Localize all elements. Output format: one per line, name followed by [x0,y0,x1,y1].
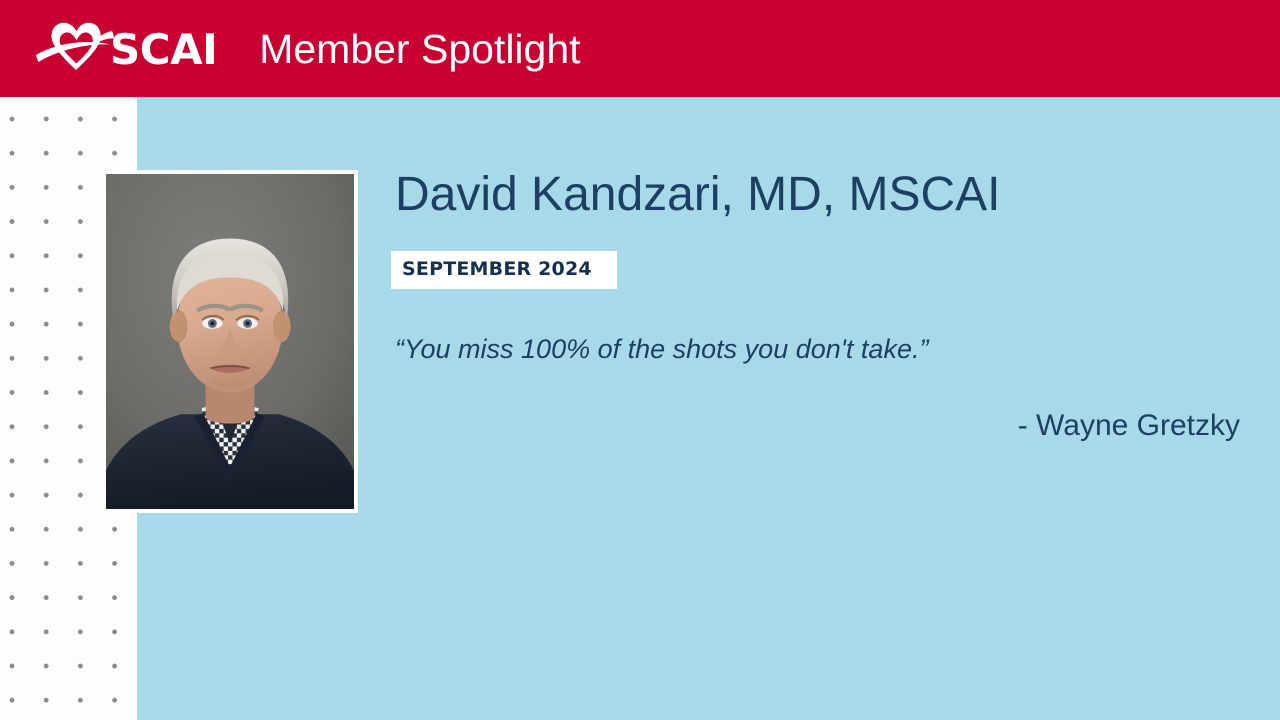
spotlight-content: David Kandzari, MD, MSCAI SEPTEMBER 2024… [391,170,1251,444]
member-spotlight-slide: SCAI Member Spotlight [0,0,1280,720]
page-title: Member Spotlight [259,29,580,70]
scai-wordmark: SCAI [110,29,217,71]
date-badge: SEPTEMBER 2024 [391,251,617,289]
scai-logo-lockup[interactable]: SCAI [36,21,217,77]
header-bar: SCAI Member Spotlight [0,0,1280,97]
quote-attribution: - Wayne Gretzky [391,408,1251,444]
member-name: David Kandzari, MD, MSCAI [391,170,1251,221]
member-quote: “You miss 100% of the shots you don't ta… [395,333,1251,365]
member-portrait-frame [102,170,358,513]
scai-heart-logo-icon [36,21,114,77]
member-portrait-photo [106,174,354,509]
